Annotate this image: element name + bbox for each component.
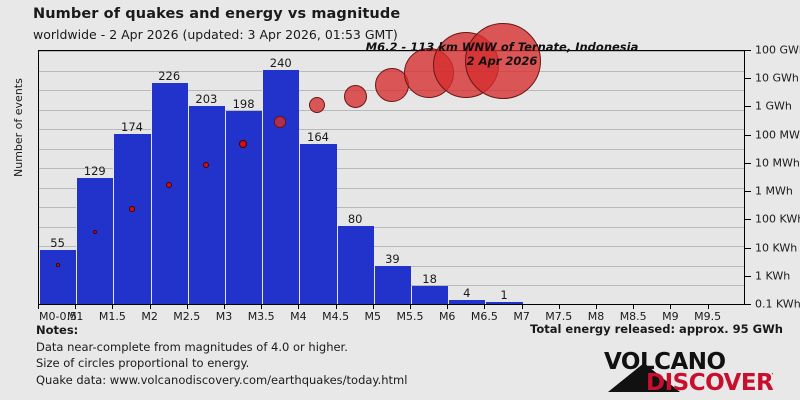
bar-value-label: 129	[76, 164, 113, 178]
y2-tick-label: 100 GWh	[755, 44, 800, 57]
quake-annotation: M6.2 - 113 km WNW of Ternate, Indonesia …	[352, 40, 652, 68]
y2-tick	[745, 106, 751, 107]
bar-value-label: 1	[485, 288, 522, 302]
y2-tick-label: 10 MWh	[755, 156, 800, 169]
y2-tick-label: 1 KWh	[755, 269, 790, 282]
x-tick	[670, 304, 671, 309]
y2-tick	[745, 78, 751, 79]
y2-tick	[745, 163, 751, 164]
energy-marker-M4-4.5	[344, 85, 367, 108]
x-tick-label: M6	[439, 310, 456, 323]
x-tick	[75, 304, 76, 309]
notes-line-3: Quake data: www.volcanodiscovery.com/ear…	[36, 372, 407, 389]
y2-tick-label: 100 MWh	[755, 128, 800, 141]
notes-header: Notes:	[36, 322, 407, 339]
y2-tick-label: 10 GWh	[755, 72, 799, 85]
x-tick	[336, 304, 337, 309]
y2-tick	[745, 248, 751, 249]
bar-value-label: 226	[151, 69, 188, 83]
x-tick	[633, 304, 634, 309]
gridline	[39, 110, 745, 111]
chart-subtitle: worldwide - 2 Apr 2026 (updated: 3 Apr 2…	[33, 27, 398, 42]
bar-value-label: 80	[337, 212, 374, 226]
x-tick	[150, 304, 151, 309]
x-tick	[447, 304, 448, 309]
energy-marker-M3.5-4	[309, 97, 325, 113]
y2-tick	[745, 276, 751, 277]
notes-line-1: Data near-complete from magnitudes of 4.…	[36, 339, 407, 356]
energy-marker-M1.5-2	[166, 182, 172, 188]
total-energy-label: Total energy released: approx. 95 GWh	[530, 322, 783, 336]
chart-plot-area: 5512917422620319824016480391841	[38, 50, 745, 304]
annotation-line-1: M6.2 - 113 km WNW of Ternate, Indonesia	[352, 40, 652, 54]
volcanodiscovery-logo: VOLCANO DISCOVERY	[598, 349, 773, 393]
y2-tick-label: 0.1 KWh	[755, 298, 800, 311]
x-tick	[708, 304, 709, 309]
y2-tick	[745, 219, 751, 220]
annotation-line-2: 2 Apr 2026	[352, 54, 652, 68]
bar-M1-1.5	[113, 134, 150, 304]
bar-value-label: 39	[374, 252, 411, 266]
energy-marker-M2.5-3	[239, 140, 247, 148]
bar-M0-0.5	[39, 250, 76, 304]
notes-block: Notes: Data near-complete from magnitude…	[36, 322, 407, 388]
bar-value-label: 240	[262, 56, 299, 70]
energy-marker-M3-3.5	[274, 116, 285, 127]
y2-tick	[745, 135, 751, 136]
bar-M0.5-1	[76, 178, 113, 304]
bar-M2-2.5	[188, 106, 225, 304]
x-tick	[261, 304, 262, 309]
bar-value-label: 18	[411, 272, 448, 286]
x-tick	[112, 304, 113, 309]
x-tick-label: M7	[513, 310, 530, 323]
bar-M3.5-4	[299, 144, 336, 304]
bar-M4.5-5	[374, 266, 411, 304]
y2-tick	[745, 191, 751, 192]
y2-tick	[745, 50, 751, 51]
energy-marker-M1-1.5	[129, 206, 134, 211]
y2-tick-label: 100 KWh	[755, 213, 800, 226]
bar-value-label: 4	[448, 286, 485, 300]
x-tick-label: M6.5	[471, 310, 498, 323]
y2-tick-label: 1 GWh	[755, 100, 792, 113]
page-title: Number of quakes and energy vs magnitude	[33, 6, 400, 22]
y2-tick	[745, 304, 751, 305]
bar-M3-3.5	[262, 70, 299, 304]
x-axis-line	[38, 304, 746, 305]
y-axis-label: Number of events	[12, 78, 25, 177]
bar-M4-4.5	[337, 226, 374, 304]
bar-M1.5-2	[151, 83, 188, 304]
bar-M5-5.5	[411, 286, 448, 304]
x-tick	[373, 304, 374, 309]
bar-value-label: 198	[225, 97, 262, 111]
x-tick	[298, 304, 299, 309]
x-tick	[410, 304, 411, 309]
x-tick	[484, 304, 485, 309]
bar-value-label: 203	[188, 92, 225, 106]
notes-line-2: Size of circles proportional to energy.	[36, 355, 407, 372]
x-tick	[224, 304, 225, 309]
x-tick	[522, 304, 523, 309]
logo-graphic: VOLCANO DISCOVERY	[598, 349, 773, 393]
bar-value-label: 174	[113, 120, 150, 134]
y2-tick-label: 1 MWh	[755, 185, 793, 198]
x-tick	[187, 304, 188, 309]
y2-axis-line	[744, 50, 745, 305]
energy-marker-M0-0.5	[56, 263, 60, 267]
x-tick	[38, 304, 39, 309]
x-tick	[559, 304, 560, 309]
x-tick	[596, 304, 597, 309]
bar-value-label: 55	[39, 236, 76, 250]
svg-text:DISCOVERY: DISCOVERY	[646, 370, 773, 393]
bar-value-label: 164	[299, 130, 336, 144]
y2-tick-label: 10 KWh	[755, 241, 797, 254]
